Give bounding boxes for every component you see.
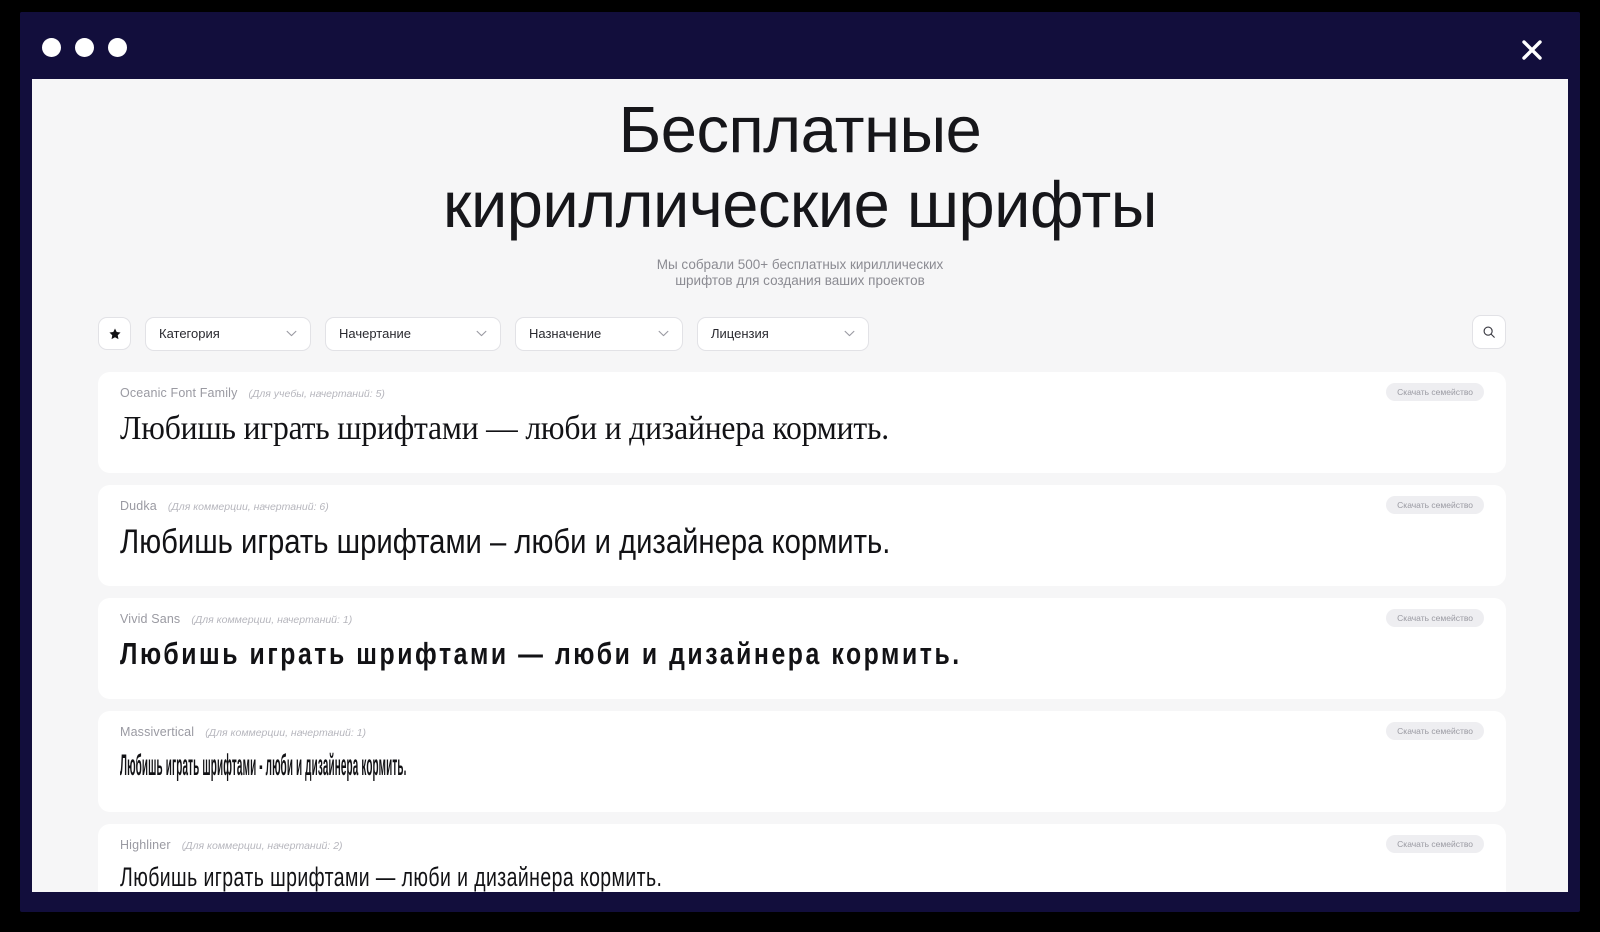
download-family-button[interactable]: Скачать семейство xyxy=(1386,383,1484,401)
page-subtitle-line-1: Мы собрали 500+ бесплатных кириллических xyxy=(32,257,1568,273)
search-button[interactable] xyxy=(1472,315,1506,349)
font-card-highliner[interactable]: Highliner (Для коммерции, начертаний: 2)… xyxy=(98,824,1506,892)
chevron-down-icon xyxy=(454,330,487,337)
font-meta: (Для коммерции, начертаний: 1) xyxy=(205,727,366,739)
font-card-header: Vivid Sans (Для коммерции, начертаний: 1… xyxy=(120,612,1484,626)
filter-style[interactable]: Начертание xyxy=(325,317,501,351)
font-name: Oceanic Font Family xyxy=(120,386,237,400)
font-card-oceanic[interactable]: Oceanic Font Family (Для учебы, начертан… xyxy=(98,372,1506,473)
window-titlebar xyxy=(20,12,1580,79)
page-title-line-2: кириллические шрифты xyxy=(32,172,1568,237)
download-family-button[interactable]: Скачать семейство xyxy=(1386,609,1484,627)
font-list: Oceanic Font Family (Для учебы, начертан… xyxy=(32,372,1568,892)
font-card-header: Highliner (Для коммерции, начертаний: 2) xyxy=(120,838,1484,852)
traffic-light-maximize[interactable] xyxy=(108,38,127,57)
traffic-light-group xyxy=(42,38,127,57)
page-title-line-1: Бесплатные xyxy=(619,93,982,166)
filter-license-label: Лицензия xyxy=(711,326,769,341)
star-icon xyxy=(108,327,122,341)
font-meta: (Для коммерции, начертаний: 6) xyxy=(168,501,329,513)
font-card-header: Dudka (Для коммерции, начертаний: 6) xyxy=(120,499,1484,513)
font-name: Dudka xyxy=(120,499,157,513)
download-family-button[interactable]: Скачать семейство xyxy=(1386,722,1484,740)
font-card-vivid-sans[interactable]: Vivid Sans (Для коммерции, начертаний: 1… xyxy=(98,598,1506,699)
font-sample-text: Любишь играть шрифтами — люби и дизайнер… xyxy=(120,862,1102,892)
font-card-header: Oceanic Font Family (Для учебы, начертан… xyxy=(120,386,1484,400)
font-meta: (Для учебы, начертаний: 5) xyxy=(248,388,384,400)
filter-purpose[interactable]: Назначение xyxy=(515,317,683,351)
filter-category-label: Категория xyxy=(159,326,220,341)
font-meta: (Для коммерции, начертаний: 1) xyxy=(191,614,352,626)
page-subtitle-line-2: шрифтов для создания ваших проектов xyxy=(32,273,1568,289)
filter-category[interactable]: Категория xyxy=(145,317,311,351)
page-root: Бесплатные кириллические шрифты Мы собра… xyxy=(0,0,1600,932)
font-card-header: Massivertical (Для коммерции, начертаний… xyxy=(120,725,1484,739)
filter-bar: Категория Начертание xyxy=(32,315,1568,353)
font-sample-text: Любишь играть шрифтами – люби и дизайнер… xyxy=(120,523,1293,562)
font-sample-text: Любишь играть шрифтами — люби и дизайнер… xyxy=(120,410,1389,448)
chevron-down-icon xyxy=(264,330,297,337)
page-subtitle: Мы собрали 500+ бесплатных кириллических… xyxy=(32,257,1568,289)
font-card-dudka[interactable]: Dudka (Для коммерции, начертаний: 6) Ска… xyxy=(98,485,1506,586)
page-title: Бесплатные кириллические шрифты xyxy=(32,97,1568,237)
close-button[interactable] xyxy=(1512,30,1552,70)
font-name: Highliner xyxy=(120,838,171,852)
font-card-massivertical[interactable]: Massivertical (Для коммерции, начертаний… xyxy=(98,711,1506,812)
hero-section: Бесплатные кириллические шрифты Мы собра… xyxy=(32,79,1568,289)
chevron-down-icon xyxy=(636,330,669,337)
download-family-button[interactable]: Скачать семейство xyxy=(1386,835,1484,853)
filter-license[interactable]: Лицензия xyxy=(697,317,869,351)
font-sample-text: Любишь играть шрифтами - люби и дизайнер… xyxy=(120,749,570,783)
search-icon xyxy=(1482,325,1496,339)
font-name: Vivid Sans xyxy=(120,612,180,626)
filter-style-label: Начертание xyxy=(339,326,411,341)
filter-purpose-label: Назначение xyxy=(529,326,601,341)
browser-window: Бесплатные кириллические шрифты Мы собра… xyxy=(20,12,1580,912)
download-family-button[interactable]: Скачать семейство xyxy=(1386,496,1484,514)
traffic-light-close[interactable] xyxy=(42,38,61,57)
traffic-light-minimize[interactable] xyxy=(75,38,94,57)
close-icon xyxy=(1517,35,1547,65)
chevron-down-icon xyxy=(822,330,855,337)
font-name: Massivertical xyxy=(120,725,194,739)
favorites-button[interactable] xyxy=(98,317,131,350)
page-content: Бесплатные кириллические шрифты Мы собра… xyxy=(32,79,1568,892)
font-sample-text: Любишь играть шрифтами — люби и дизайнер… xyxy=(120,636,1211,672)
font-meta: (Для коммерции, начертаний: 2) xyxy=(182,840,343,852)
